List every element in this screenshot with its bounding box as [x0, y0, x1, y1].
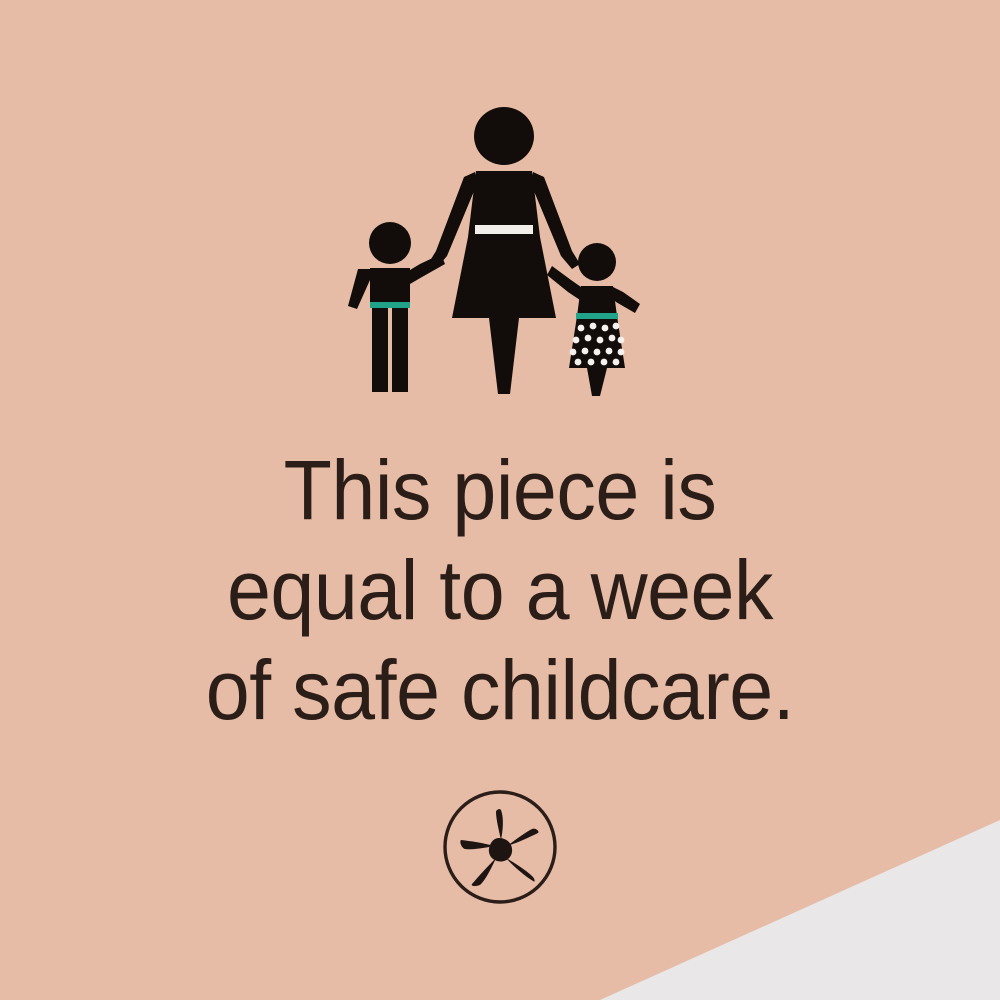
- mother-skirt: [452, 237, 556, 318]
- starfish-icon: [460, 809, 538, 886]
- family-pictogram-illustration: [344, 104, 664, 404]
- boy-right-arm: [410, 254, 445, 284]
- girl-right-arm: [612, 287, 640, 313]
- girl-waistband: [576, 313, 618, 319]
- boy-right-leg: [392, 308, 408, 392]
- boy-head: [369, 222, 411, 264]
- boy-left-arm: [348, 269, 370, 309]
- mother-legs: [489, 318, 519, 394]
- girl-legs: [587, 368, 607, 396]
- girl-left-arm: [547, 266, 581, 300]
- mother-head: [474, 107, 534, 165]
- mother-belt: [475, 225, 533, 234]
- headline-line-2: equal to a week: [30, 540, 970, 640]
- girl-head: [578, 243, 616, 281]
- girl-bodice: [577, 286, 617, 316]
- boy-belt: [370, 302, 410, 308]
- headline-text: This piece is equal to a week of safe ch…: [0, 440, 1000, 740]
- headline-line-1: This piece is: [30, 440, 970, 540]
- boy-left-leg: [372, 308, 388, 392]
- headline-line-3: of safe childcare.: [30, 640, 970, 740]
- poster-canvas: This piece is equal to a week of safe ch…: [0, 0, 1000, 1000]
- starfish-logo: [441, 788, 559, 906]
